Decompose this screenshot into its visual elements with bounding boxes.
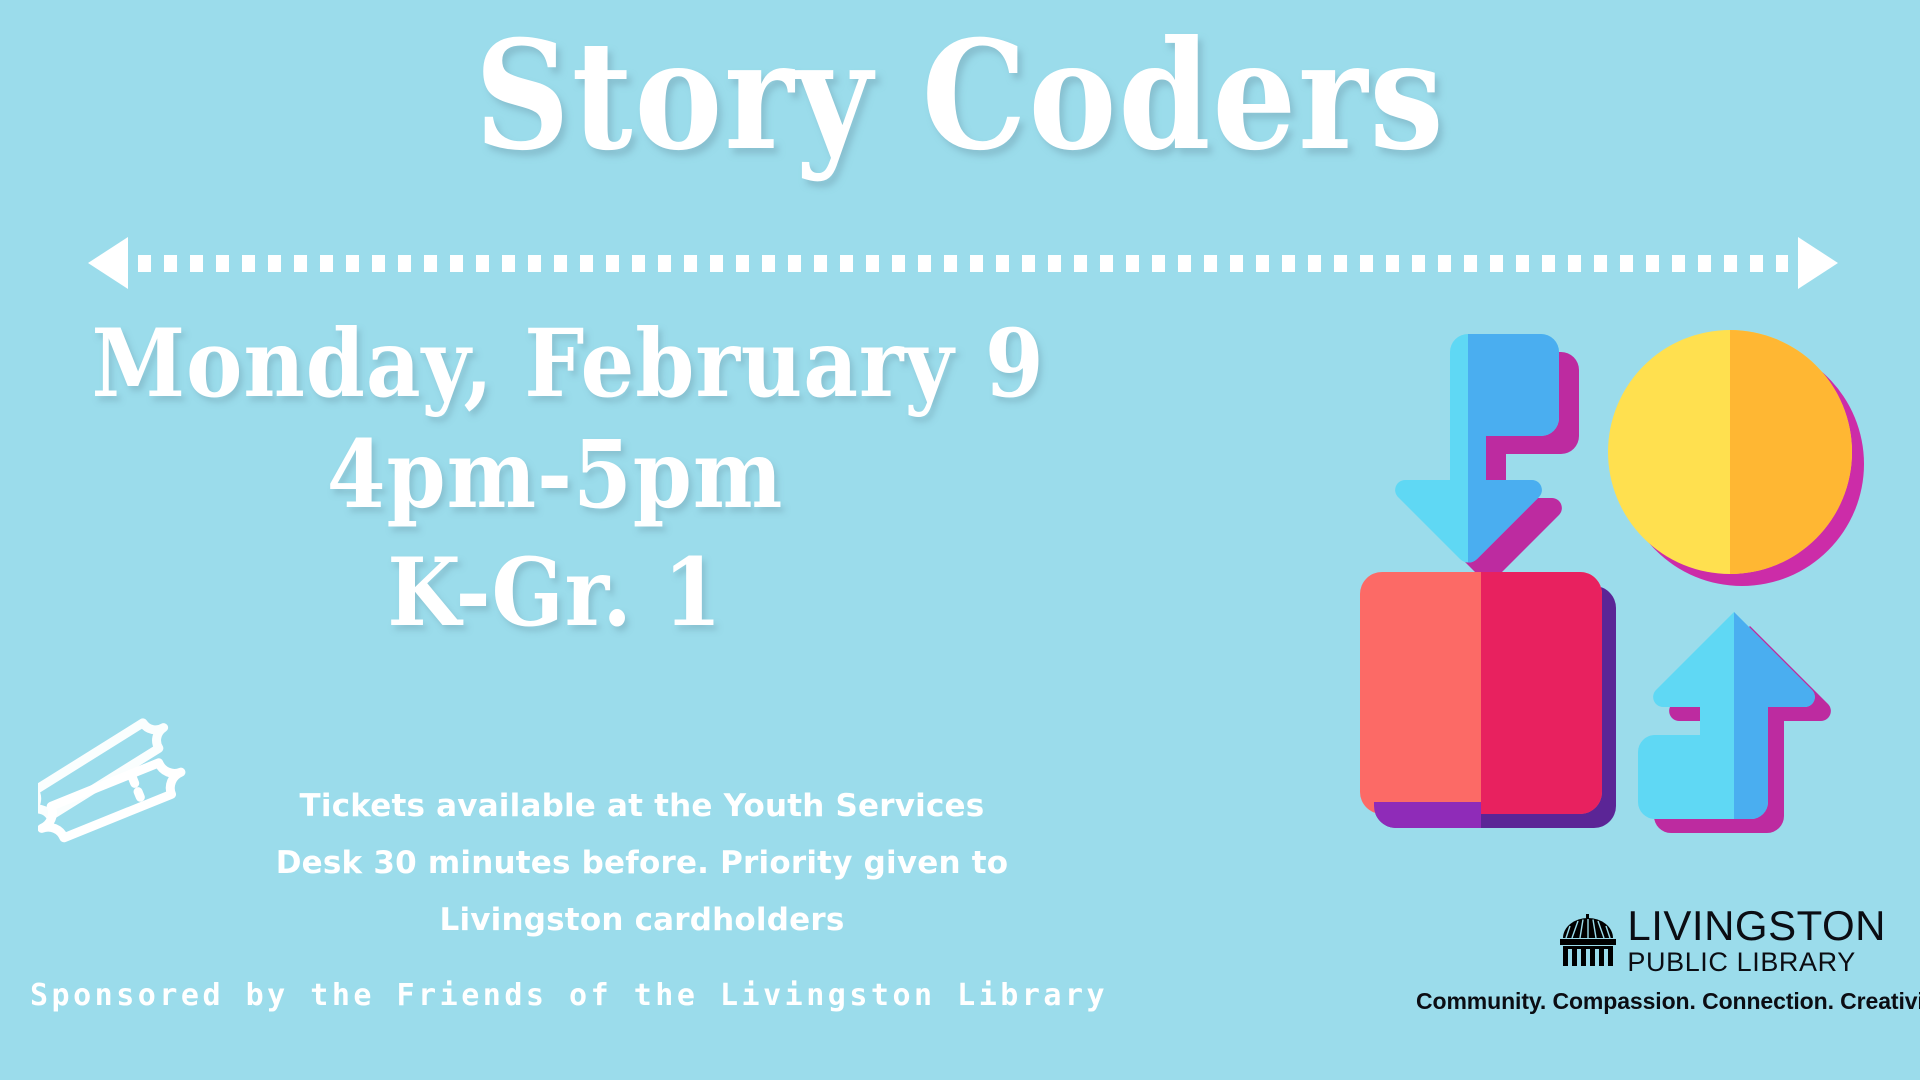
library-logo: LIVINGSTON PUBLIC LIBRARY Community. Com…	[1416, 905, 1886, 1015]
circle-shape-icon	[1608, 330, 1864, 586]
divider	[88, 237, 1838, 289]
logo-wordmark: LIVINGSTON PUBLIC LIBRARY	[1627, 905, 1886, 976]
coding-graphic	[1336, 312, 1886, 862]
logo-name-top: LIVINGSTON	[1627, 905, 1886, 947]
sponsor-line: Sponsored by the Friends of the Livingst…	[30, 978, 1050, 1013]
logo-name-bottom: PUBLIC LIBRARY	[1627, 949, 1856, 976]
logo-tagline: Community. Compassion. Connection. Creat…	[1416, 988, 1886, 1015]
arrow-up-icon	[1638, 612, 1831, 833]
arrow-down-icon	[1395, 334, 1579, 581]
arrow-right-icon	[1798, 237, 1838, 289]
event-details: Monday, February 9 4pm-5pm K-Gr. 1	[40, 312, 1070, 652]
page-title: Story Coders	[115, 18, 1805, 176]
library-dome-icon	[1557, 914, 1619, 968]
square-shape-icon	[1360, 572, 1616, 828]
logo-row: LIVINGSTON PUBLIC LIBRARY	[1416, 905, 1886, 976]
event-time: 4pm-5pm	[92, 417, 1019, 535]
event-grades: K-Gr. 1	[92, 535, 1019, 653]
event-date: Monday, February 9	[92, 312, 1019, 417]
arrow-left-icon	[88, 237, 128, 289]
poster-canvas: Story Coders Monday, February 9 4pm-5pm …	[0, 0, 1920, 1080]
ticket-note: Tickets available at the Youth Services …	[262, 778, 1022, 949]
ticket-icon	[38, 690, 268, 920]
dotted-line	[138, 255, 1788, 272]
